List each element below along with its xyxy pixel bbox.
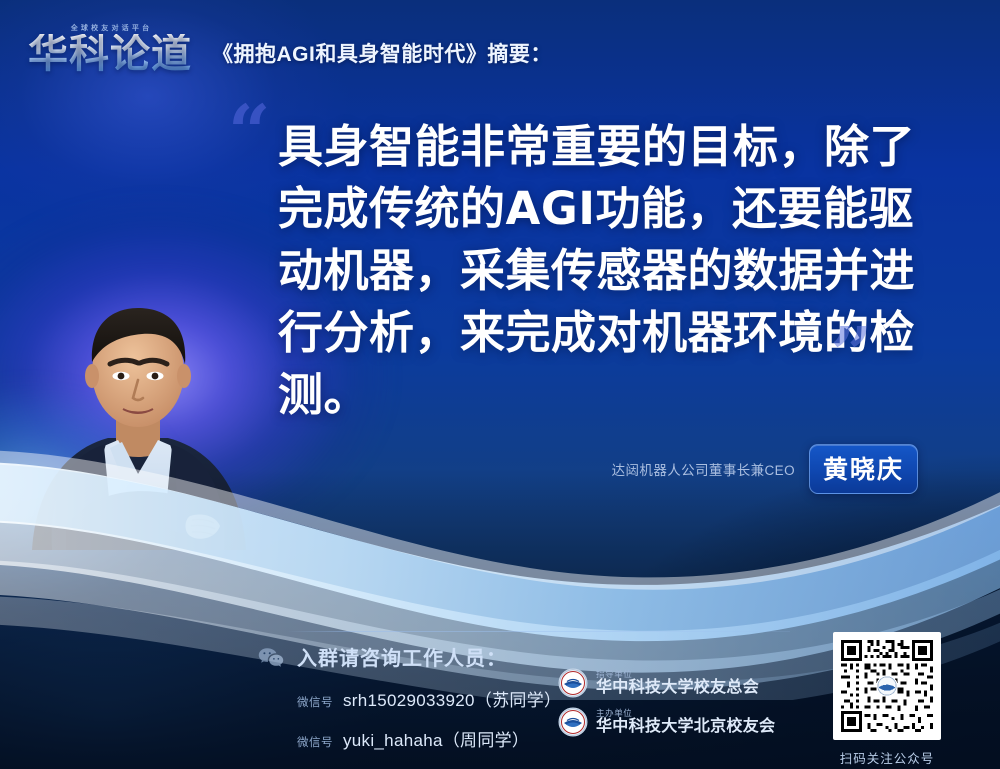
brand-logo: 全球校友对话平台 华科论道: [28, 23, 192, 74]
university-seal-icon: [558, 707, 588, 737]
organizer-list: 指导单位 华中科技大学校友总会 主办单位 华中科技大学北京校友会: [558, 668, 775, 746]
qr-caption: 扫码关注公众号: [833, 748, 941, 767]
organizer-text: 指导单位 华中科技大学校友总会: [596, 670, 759, 697]
footer-title: 入群请咨询工作人员：: [297, 642, 507, 671]
qr-code-image[interactable]: [833, 632, 941, 740]
speaker-role: 达闼机器人公司董事长兼CEO: [612, 459, 795, 479]
brand-name: 华科论道: [28, 34, 192, 74]
contact-value: yuki_hahaha（周同学）: [343, 726, 529, 751]
university-seal-icon: [558, 668, 588, 698]
qr-code-block: 扫码关注公众号: [833, 632, 941, 767]
quote-close-mark: ”: [830, 318, 873, 392]
poster-canvas: 全球校友对话平台 华科论道 《拥抱AGI和具身智能时代》摘要： “ 具身智能非常…: [0, 0, 1000, 769]
speaker-name-badge: 黄晓庆: [809, 444, 918, 494]
organizer-name: 华中科技大学北京校友会: [596, 719, 775, 736]
organizer-text: 主办单位 华中科技大学北京校友会: [596, 709, 775, 736]
organizer-name: 华中科技大学校友总会: [596, 680, 759, 697]
footer-heading-row: 入群请咨询工作人员：: [258, 642, 818, 671]
contact-value: srh15029033920（苏同学）: [343, 686, 561, 711]
poster-header: 全球校友对话平台 华科论道 《拥抱AGI和具身智能时代》摘要：: [0, 0, 1000, 96]
contact-label: 微信号: [297, 734, 333, 750]
speaker-portrait: [22, 288, 254, 550]
speaker-attribution: 达闼机器人公司董事长兼CEO 黄晓庆: [612, 444, 918, 494]
organizer-kind: 主办单位: [596, 709, 775, 718]
organizer-item: 指导单位 华中科技大学校友总会: [558, 668, 775, 698]
contact-label: 微信号: [297, 694, 333, 710]
organizer-item: 主办单位 华中科技大学北京校友会: [558, 707, 775, 737]
organizer-kind: 指导单位: [596, 670, 759, 679]
page-title: 《拥抱AGI和具身智能时代》摘要：: [212, 38, 552, 68]
wechat-icon: [258, 647, 284, 667]
footer-divider: [287, 631, 790, 632]
brand-tagline: 全球校友对话平台: [68, 23, 153, 33]
quote-open-mark: “: [228, 96, 271, 170]
